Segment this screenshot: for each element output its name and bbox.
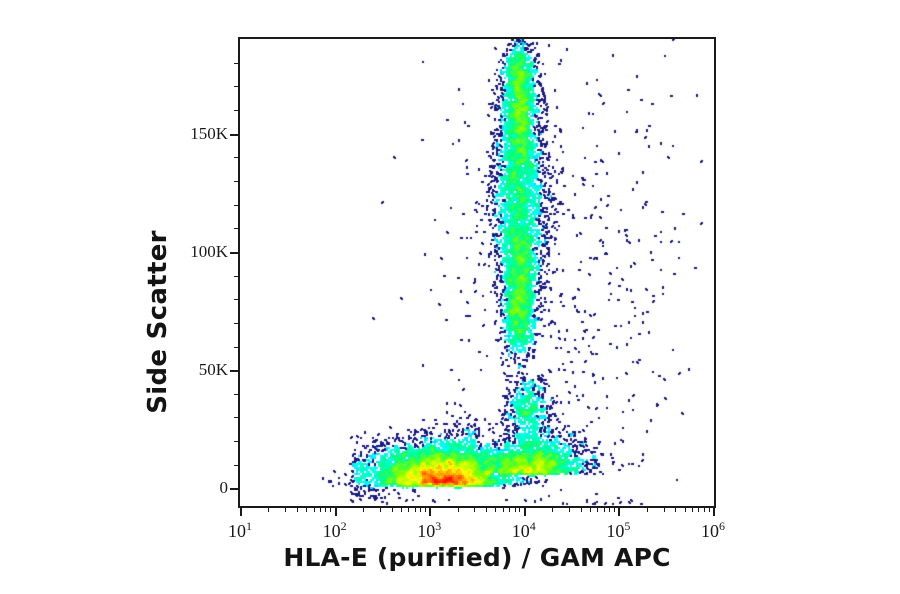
scatter-density-canvas (240, 39, 714, 506)
x-tick-minor (581, 508, 582, 512)
x-tick-minor (675, 508, 676, 512)
x-tick-exponent: 4 (530, 519, 536, 533)
x-tick-minor (458, 508, 459, 512)
x-tick-minor (503, 508, 504, 512)
x-tick-major (429, 508, 431, 516)
x-tick-label: 104 (494, 519, 554, 542)
x-tick-minor (495, 508, 496, 512)
plot-frame-bottom (238, 506, 716, 508)
x-tick-major (618, 508, 620, 516)
x-tick-mantissa: 10 (606, 521, 624, 541)
x-tick-minor (698, 508, 699, 512)
x-tick-exponent: 2 (341, 519, 347, 533)
plot-frame-right (714, 37, 716, 508)
x-tick-minor (401, 508, 402, 512)
y-tick-label: 100K (158, 242, 228, 262)
x-tick-minor (415, 508, 416, 512)
x-tick-minor (314, 508, 315, 512)
x-tick-mantissa: 10 (512, 521, 530, 541)
y-tick-minor (234, 181, 238, 182)
x-tick-minor (597, 508, 598, 512)
x-tick-minor (392, 508, 393, 512)
x-tick-major (335, 508, 337, 516)
x-tick-minor (614, 508, 615, 512)
x-tick-minor (408, 508, 409, 512)
y-tick-major (230, 134, 238, 136)
y-tick-minor (234, 299, 238, 300)
x-tick-label: 103 (399, 519, 459, 542)
x-tick-minor (685, 508, 686, 512)
x-tick-minor (268, 508, 269, 512)
y-tick-minor (234, 110, 238, 111)
y-tick-label: 50K (158, 360, 228, 380)
y-tick-minor (234, 157, 238, 158)
x-tick-exponent: 1 (246, 519, 252, 533)
x-tick-minor (285, 508, 286, 512)
plot-frame-left (238, 37, 240, 508)
x-tick-mantissa: 10 (701, 521, 719, 541)
x-tick-minor (509, 508, 510, 512)
x-tick-minor (420, 508, 421, 512)
y-tick-minor (234, 86, 238, 87)
x-tick-minor (363, 508, 364, 512)
x-tick-minor (325, 508, 326, 512)
x-tick-minor (297, 508, 298, 512)
y-tick-minor (234, 347, 238, 348)
y-tick-label: 0 (158, 478, 228, 498)
x-tick-minor (704, 508, 705, 512)
y-tick-minor (234, 465, 238, 466)
x-tick-minor (306, 508, 307, 512)
x-tick-mantissa: 10 (323, 521, 341, 541)
x-tick-minor (486, 508, 487, 512)
y-tick-major (230, 252, 238, 254)
x-tick-minor (609, 508, 610, 512)
y-tick-minor (234, 205, 238, 206)
y-tick-minor (234, 323, 238, 324)
y-tick-minor (234, 441, 238, 442)
x-tick-label: 106 (683, 519, 743, 542)
y-tick-minor (234, 63, 238, 64)
x-tick-minor (604, 508, 605, 512)
x-tick-major (240, 508, 242, 516)
x-tick-minor (515, 508, 516, 512)
x-tick-minor (330, 508, 331, 512)
x-tick-exponent: 3 (435, 519, 441, 533)
x-tick-exponent: 5 (624, 519, 630, 533)
plot-frame-top (238, 37, 716, 39)
x-tick-minor (519, 508, 520, 512)
flow-cytometry-figure: Side Scatter 050K100K150K 10110210310410… (0, 0, 900, 594)
x-tick-minor (569, 508, 570, 512)
x-tick-minor (320, 508, 321, 512)
x-tick-minor (552, 508, 553, 512)
y-tick-minor (234, 417, 238, 418)
plot-area: 050K100K150K 101102103104105106 (238, 37, 716, 508)
x-tick-major (524, 508, 526, 516)
x-tick-mantissa: 10 (228, 521, 246, 541)
x-tick-minor (692, 508, 693, 512)
x-tick-minor (380, 508, 381, 512)
x-axis-title-text: HLA-E (purified) / GAM APC (283, 543, 670, 572)
x-tick-label: 102 (305, 519, 365, 542)
x-tick-minor (590, 508, 591, 512)
x-tick-minor (709, 508, 710, 512)
x-tick-minor (425, 508, 426, 512)
y-tick-minor (234, 276, 238, 277)
y-tick-major (230, 370, 238, 372)
x-axis-title: HLA-E (purified) / GAM APC (238, 543, 716, 572)
y-tick-major (230, 488, 238, 490)
y-tick-label: 150K (158, 124, 228, 144)
y-tick-minor (234, 394, 238, 395)
x-tick-major (713, 508, 715, 516)
x-tick-minor (647, 508, 648, 512)
x-tick-minor (474, 508, 475, 512)
x-tick-label: 101 (210, 519, 270, 542)
x-tick-exponent: 6 (719, 519, 725, 533)
y-axis-title: Side Scatter (138, 112, 178, 532)
x-tick-label: 105 (588, 519, 648, 542)
y-tick-minor (234, 228, 238, 229)
x-tick-mantissa: 10 (417, 521, 435, 541)
x-tick-minor (664, 508, 665, 512)
